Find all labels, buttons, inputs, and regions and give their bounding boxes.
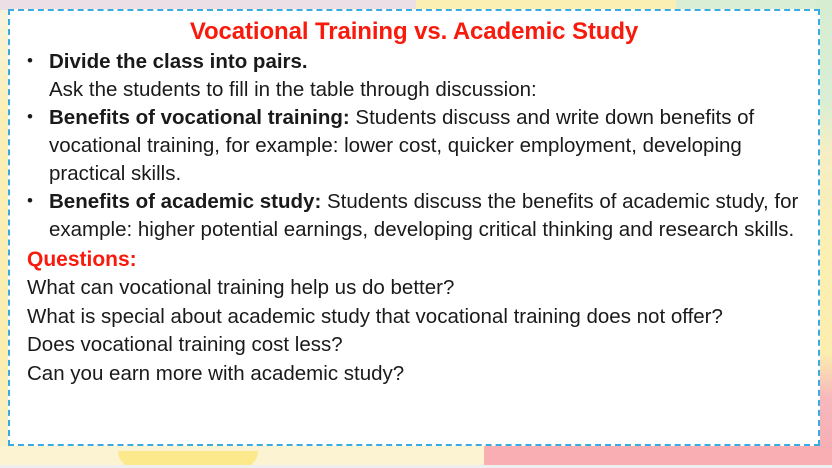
question-line: Does vocational training cost less? [16, 331, 812, 360]
questions-heading: Questions: [16, 246, 812, 274]
instructions-list: Divide the class into pairs. Ask the stu… [16, 48, 812, 244]
list-item: Ask the students to fill in the table th… [16, 76, 812, 104]
bullet-lead-text: Benefits of academic study: [49, 190, 321, 213]
questions-list: What can vocational training help us do … [16, 274, 812, 388]
list-item: Divide the class into pairs. [16, 48, 812, 76]
bullet-lead-text: Benefits of vocational training: [49, 106, 350, 129]
bullet-body-text: Ask the students to fill in the table th… [49, 78, 537, 101]
question-line: What is special about academic study tha… [16, 303, 812, 332]
list-item: Benefits of vocational training: Student… [16, 104, 812, 188]
bullet-lead-text: Divide the class into pairs. [49, 50, 308, 73]
slide-content-placeholder[interactable]: Vocational Training vs. Academic Study D… [8, 9, 820, 446]
list-item: Benefits of academic study: Students dis… [16, 188, 812, 244]
question-line: Can you earn more with academic study? [16, 360, 812, 389]
question-line: What can vocational training help us do … [16, 274, 812, 303]
slide-title: Vocational Training vs. Academic Study [16, 17, 812, 47]
